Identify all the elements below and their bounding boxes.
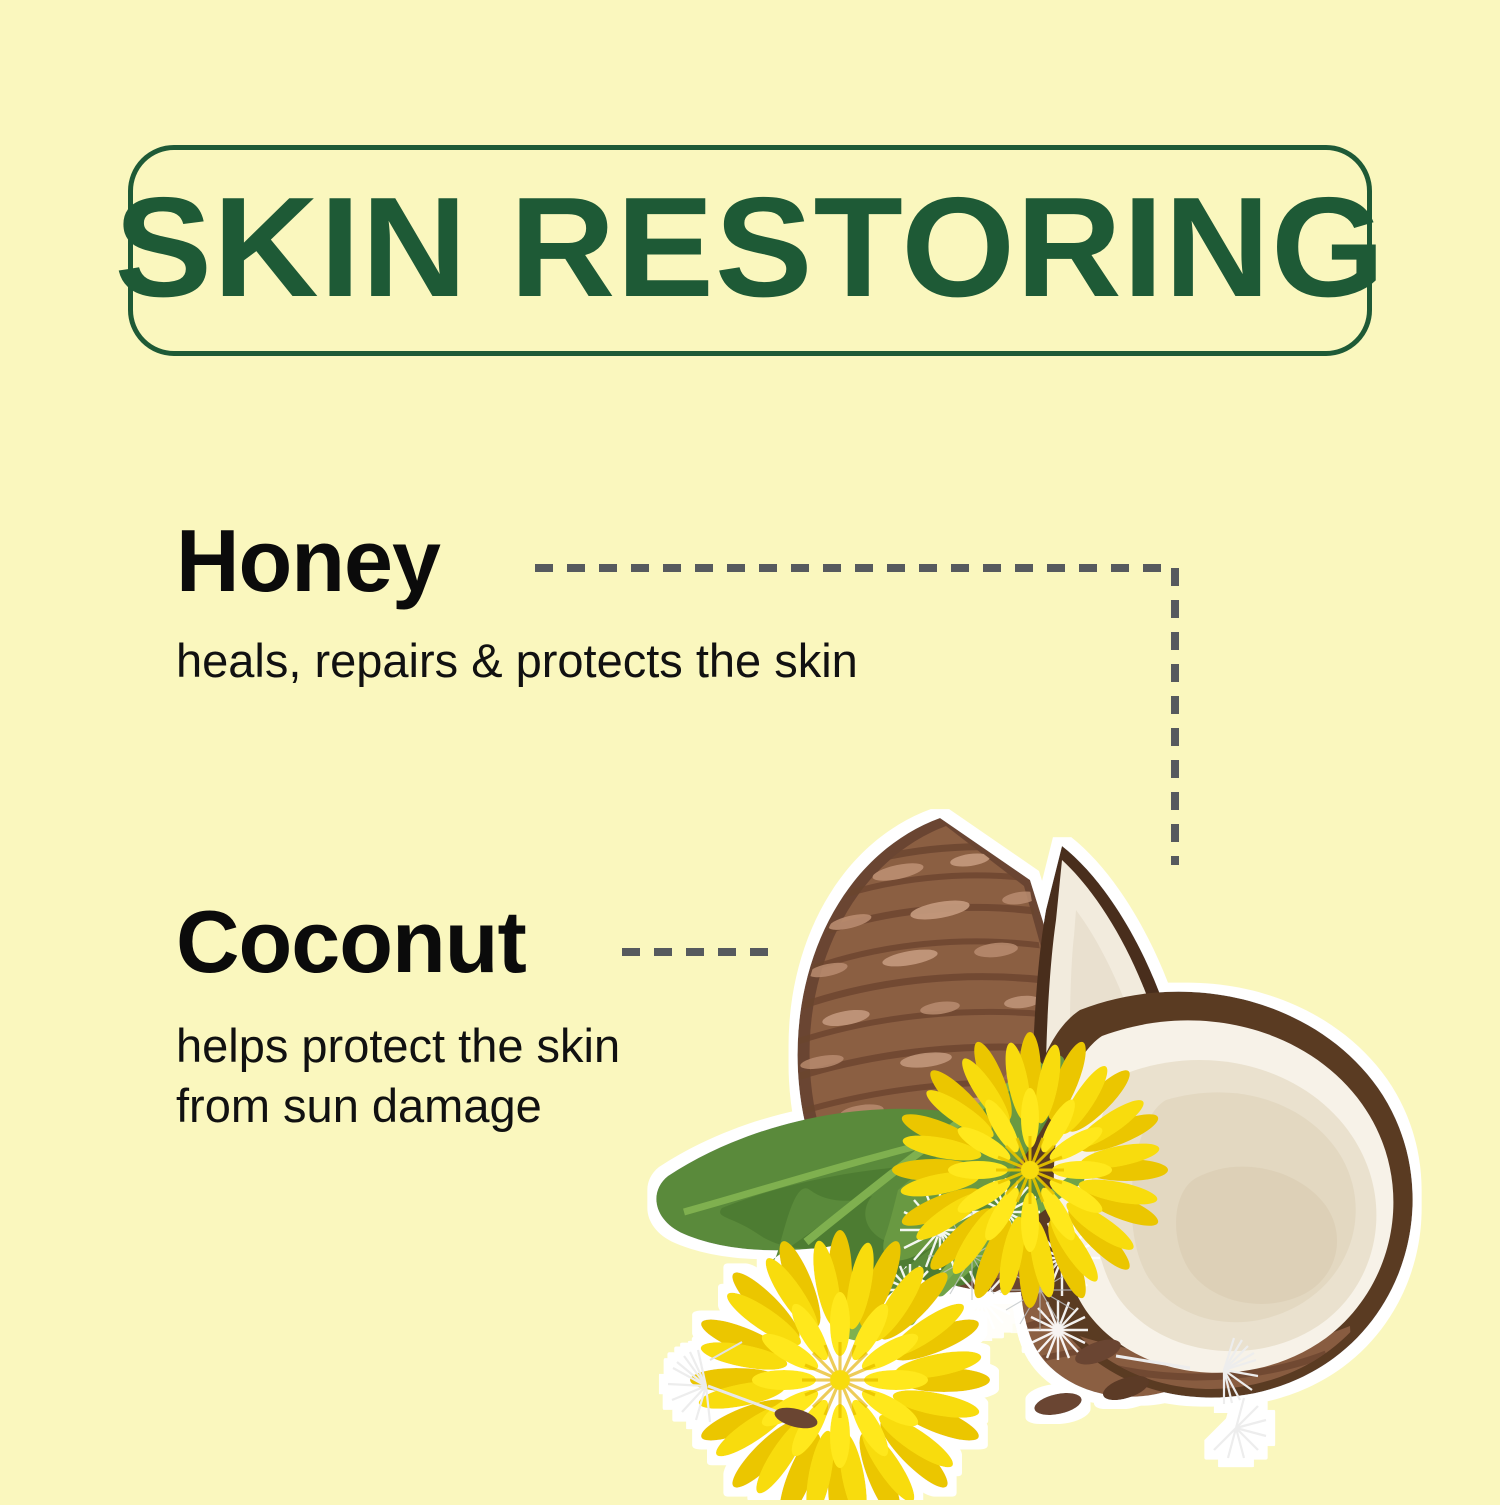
dandelion-upper-petals [892,1032,1168,1308]
dandelion-lower-center [830,1370,850,1390]
ingredient-coconut-description: helps protect the skin from sun damage [176,1016,620,1136]
illustration-svg [610,760,1450,1500]
ingredient-coconut-name: Coconut [176,898,620,986]
infographic-canvas: SKIN RESTORING Honey heals, repairs & pr… [0,0,1500,1500]
ingredient-coconut: Coconut helps protect the skin from sun … [176,898,620,1136]
title-banner: SKIN RESTORING [128,145,1372,356]
dandelion-upper-center [1021,1161,1039,1179]
illustration-artwork [656,818,1412,1500]
page-title: SKIN RESTORING [114,177,1385,325]
dandelion-flower-upper [892,1032,1168,1308]
coconut-dandelion-illustration [610,760,1450,1500]
